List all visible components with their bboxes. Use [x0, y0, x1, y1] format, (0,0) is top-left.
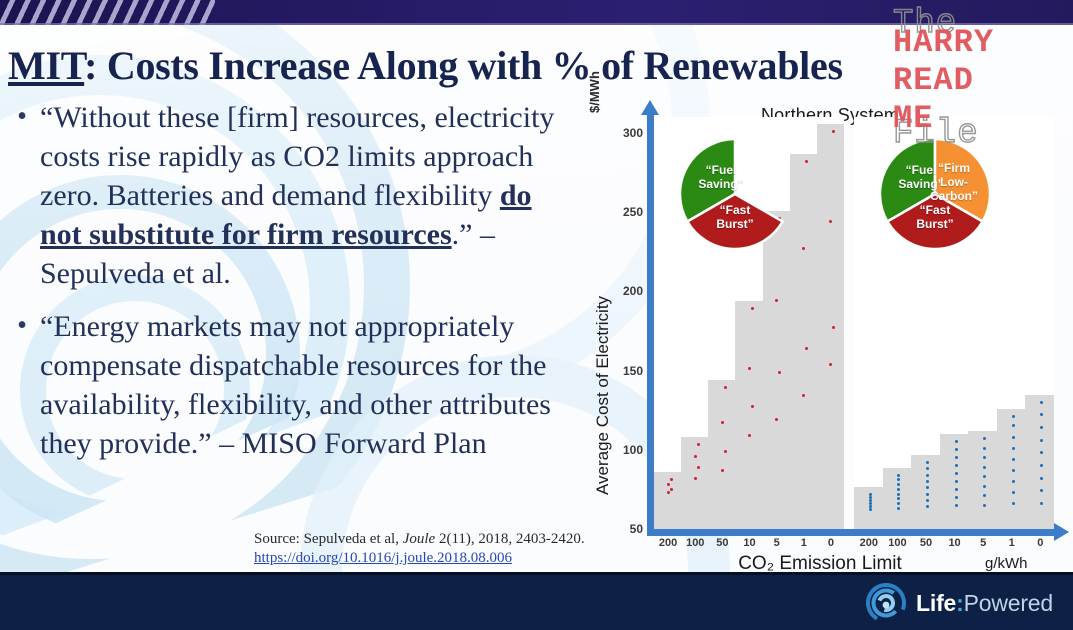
bullet-text-1: “Without these [firm] resources, electri… [40, 98, 580, 293]
y-tick-label: 300 [623, 126, 643, 140]
data-point [1040, 426, 1043, 429]
data-point [1040, 477, 1043, 480]
data-point [775, 418, 778, 421]
bullet-item-2: • “Energy markets may not appropriately … [14, 307, 580, 463]
data-point [751, 307, 754, 310]
stair-step-band [1025, 117, 1054, 395]
data-point [955, 464, 958, 467]
data-point [1012, 415, 1015, 418]
bullet-list: • “Without these [firm] resources, elect… [14, 98, 580, 477]
x-tick-label: 0 [828, 537, 834, 549]
data-point [983, 456, 986, 459]
data-point [829, 363, 832, 366]
pie-slice-label: “Fuel Saving” [694, 163, 748, 191]
data-point [751, 405, 754, 408]
x-tick-label: 50 [716, 537, 728, 549]
data-point [897, 502, 900, 505]
data-point [983, 437, 986, 440]
data-point [805, 347, 808, 350]
data-point [1012, 469, 1015, 472]
data-point [775, 299, 778, 302]
x-tick-label: 100 [686, 537, 704, 549]
x-tick-label: 200 [659, 537, 677, 549]
slide-footer: Life:Powered [0, 572, 1073, 630]
data-point [897, 507, 900, 510]
data-point [955, 456, 958, 459]
data-point [694, 477, 697, 480]
pie-slice-label: “Fast Burst” [707, 203, 763, 231]
data-point [778, 371, 781, 374]
data-point [983, 447, 986, 450]
data-point [721, 469, 724, 472]
logo-powered: Powered [964, 590, 1053, 616]
x-tick-label: 10 [743, 537, 755, 549]
data-point [1040, 451, 1043, 454]
source-lead: Source: Sepulveda et al, [254, 531, 403, 547]
data-point [697, 466, 700, 469]
data-point [983, 494, 986, 497]
presentation-slide: MIT: Costs Increase Along with % of Rene… [0, 0, 1073, 630]
chart-figure: Northern System $/MWh Average Cost of El… [585, 105, 1073, 567]
data-point [829, 220, 832, 223]
y-tick-label: 100 [623, 443, 643, 457]
right-pie-resource-mix: “Fuel Saving”“Firm Low- Carbon”“Fast Bur… [876, 135, 994, 253]
data-point [1040, 439, 1043, 442]
pie-slices [676, 135, 794, 253]
data-point [926, 486, 929, 489]
data-point [805, 160, 808, 163]
data-point [869, 499, 872, 502]
data-point [1040, 413, 1043, 416]
data-point [983, 504, 986, 507]
x-tick-label: 10 [948, 537, 960, 549]
data-point [1012, 458, 1015, 461]
y-tick-label: 200 [623, 284, 643, 298]
data-point [869, 493, 872, 496]
logo-colon: : [956, 590, 963, 616]
data-point [926, 493, 929, 496]
data-point [955, 448, 958, 451]
data-point [926, 499, 929, 502]
bullet-2-pre: “Energy markets may not appropriately co… [40, 310, 551, 460]
data-point [724, 386, 727, 389]
data-point [721, 421, 724, 424]
swirl-logo-icon [866, 583, 906, 623]
title-rest: : Costs Increase Along with % of Renewab… [84, 43, 843, 88]
data-point [697, 443, 700, 446]
data-point [1040, 502, 1043, 505]
y-tick-label: 250 [623, 205, 643, 219]
life-powered-logo: Life:Powered [866, 583, 1053, 623]
data-point [983, 485, 986, 488]
pie-slice-label: “Fast Burst” [907, 203, 963, 231]
data-point [926, 467, 929, 470]
data-point [832, 130, 835, 133]
y-tick-label: 50 [630, 522, 643, 536]
data-point [1012, 480, 1015, 483]
data-point [955, 496, 958, 499]
x-tick-label: 0 [1037, 537, 1043, 549]
data-point [748, 367, 751, 370]
x-tick-label: 5 [774, 537, 780, 549]
data-point [869, 502, 872, 505]
data-point [897, 474, 900, 477]
data-point [897, 493, 900, 496]
data-point [955, 472, 958, 475]
data-point [1012, 491, 1015, 494]
data-point [869, 496, 872, 499]
y-axis-unit: $/MWh [587, 71, 602, 113]
x-tick-label: 1 [1009, 537, 1015, 549]
data-point [955, 504, 958, 507]
y-tick-label: 150 [623, 364, 643, 378]
data-point [1012, 436, 1015, 439]
data-point [897, 488, 900, 491]
bullet-marker: • [14, 307, 30, 463]
stair-step-band [997, 117, 1026, 409]
logo-life: Life [916, 590, 956, 616]
data-point [1012, 502, 1015, 505]
data-point [983, 466, 986, 469]
data-point [955, 488, 958, 491]
data-point [1040, 489, 1043, 492]
data-point [724, 450, 727, 453]
pie-slice-label: “Firm Low- Carbon” [926, 161, 982, 203]
data-point [869, 508, 872, 511]
data-point [897, 483, 900, 486]
data-point [748, 434, 751, 437]
x-axis-arrow [647, 529, 1055, 536]
x-axis-unit: g/kWh [985, 555, 1028, 572]
data-point [1012, 424, 1015, 427]
data-point [1012, 447, 1015, 450]
data-point [670, 488, 673, 491]
source-journal: Joule [403, 531, 435, 547]
data-point [694, 455, 697, 458]
bullet-item-1: • “Without these [firm] resources, elect… [14, 98, 580, 293]
data-point [667, 491, 670, 494]
data-point [1040, 401, 1043, 404]
data-point [897, 478, 900, 481]
data-point [926, 461, 929, 464]
data-point [667, 483, 670, 486]
data-point [1040, 464, 1043, 467]
x-tick-label: 200 [860, 537, 878, 549]
data-point [926, 474, 929, 477]
bullet-text-2: “Energy markets may not appropriately co… [40, 307, 580, 463]
plot-area: “Fuel Saving”“Fast Burst”“Fuel Saving”“F… [654, 117, 1054, 529]
data-point [955, 480, 958, 483]
x-tick-label: 100 [888, 537, 906, 549]
data-point [926, 480, 929, 483]
stair-step-band [817, 117, 844, 124]
diagonal-stripes-pattern [0, 0, 215, 25]
title-prefix: MIT [8, 43, 84, 88]
y-axis-arrow [647, 113, 654, 536]
data-point [802, 394, 805, 397]
slide-title: MIT: Costs Increase Along with % of Rene… [8, 44, 1073, 88]
x-tick-label: 1 [801, 537, 807, 549]
logo-wordmark: Life:Powered [916, 590, 1053, 617]
source-details: 2(11), 2018, 2403-2420. [435, 531, 584, 547]
data-point [983, 475, 986, 478]
top-decorative-bar [0, 0, 1073, 25]
data-point [955, 440, 958, 443]
left-pie-resource-mix: “Fuel Saving”“Fast Burst” [676, 135, 794, 253]
bullet-marker: • [14, 98, 30, 293]
bullet-1-pre: “Without these [firm] resources, electri… [40, 101, 554, 212]
y-axis-ticks: 30025020015010050 [609, 105, 645, 535]
x-tick-label: 5 [980, 537, 986, 549]
data-point [832, 326, 835, 329]
data-point [670, 478, 673, 481]
data-point [926, 505, 929, 508]
data-point [802, 247, 805, 250]
data-point [897, 497, 900, 500]
x-tick-label: 50 [920, 537, 932, 549]
